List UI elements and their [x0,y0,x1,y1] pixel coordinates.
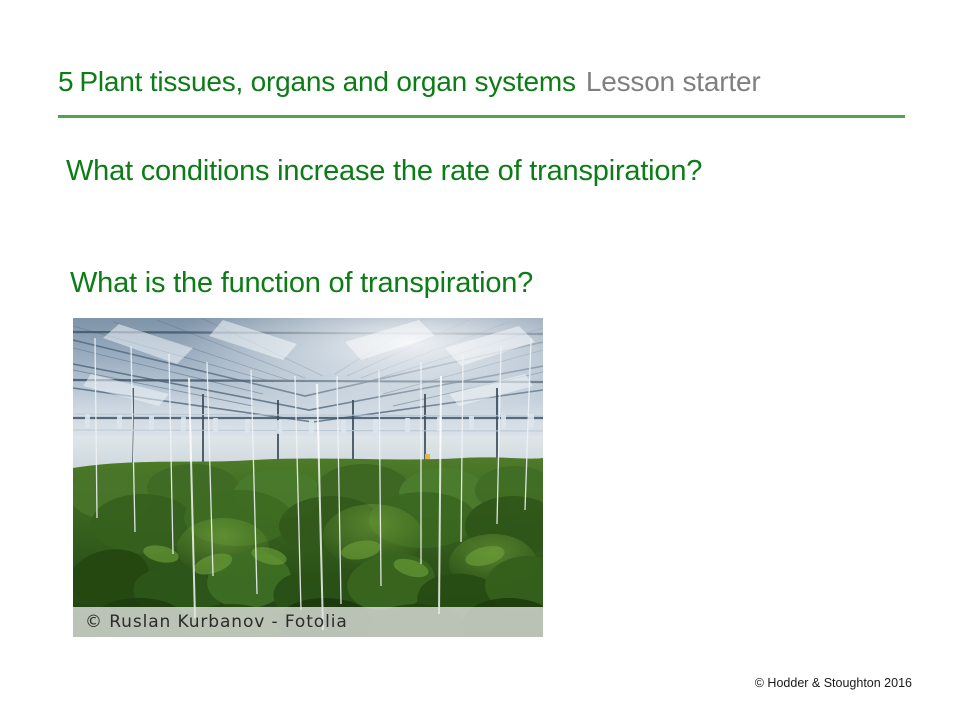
greenhouse-photo-image [73,318,543,637]
page-title: Plant tissues, organs and organ systems [79,66,575,97]
question-text: What conditions increase the rate of tra… [66,150,706,192]
chapter-number: 5 [58,66,73,97]
question-block-one: What conditions increase the rate of tra… [66,150,706,192]
greenhouse-figure: © Ruslan Kurbanov - Fotolia [73,318,543,637]
photo-credit-text: © Ruslan Kurbanov - Fotolia [85,612,348,632]
slide-header: 5Plant tissues, organs and organ systems… [58,66,906,108]
section-label: Lesson starter [586,66,761,97]
photo-credit-bar: © Ruslan Kurbanov - Fotolia [73,607,543,637]
question-block-two: What is the function of transpiration? [70,262,770,304]
footer-copyright: © Hodder & Stoughton 2016 [755,676,912,690]
question-text: What is the function of transpiration? [70,262,770,304]
header-divider [58,115,905,118]
